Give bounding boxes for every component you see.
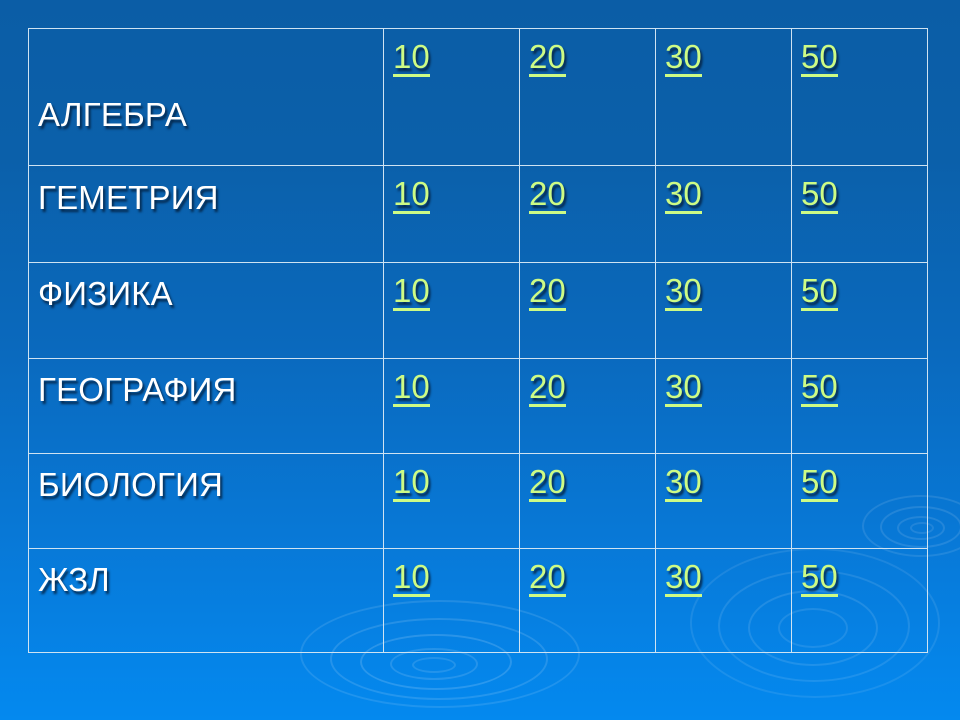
category-cell-biology: БИОЛОГИЯ bbox=[29, 454, 384, 549]
points-link[interactable]: 50 bbox=[801, 560, 838, 597]
score-cell-zhzl-50[interactable]: 50 bbox=[792, 549, 928, 653]
points-link[interactable]: 50 bbox=[801, 274, 838, 311]
points-link[interactable]: 30 bbox=[665, 370, 702, 407]
table-row: ГЕМЕТРИЯ 10 20 30 50 bbox=[29, 166, 928, 263]
score-cell-geography-50[interactable]: 50 bbox=[792, 359, 928, 454]
points-link[interactable]: 50 bbox=[801, 177, 838, 214]
score-cell-zhzl-10[interactable]: 10 bbox=[384, 549, 520, 653]
points-link[interactable]: 20 bbox=[529, 274, 566, 311]
points-link[interactable]: 30 bbox=[665, 560, 702, 597]
category-label: ГЕОГРАФИЯ bbox=[29, 359, 383, 406]
points-link[interactable]: 30 bbox=[665, 274, 702, 311]
points-link[interactable]: 10 bbox=[393, 177, 430, 214]
score-cell-geography-20[interactable]: 20 bbox=[520, 359, 656, 454]
score-cell-physics-50[interactable]: 50 bbox=[792, 263, 928, 359]
score-cell-geography-30[interactable]: 30 bbox=[656, 359, 792, 454]
score-cell-biology-20[interactable]: 20 bbox=[520, 454, 656, 549]
score-cell-geometry-10[interactable]: 10 bbox=[384, 166, 520, 263]
points-link[interactable]: 50 bbox=[801, 40, 838, 77]
points-link[interactable]: 10 bbox=[393, 40, 430, 77]
score-cell-physics-10[interactable]: 10 bbox=[384, 263, 520, 359]
score-cell-physics-30[interactable]: 30 bbox=[656, 263, 792, 359]
score-cell-biology-10[interactable]: 10 bbox=[384, 454, 520, 549]
points-link[interactable]: 50 bbox=[801, 370, 838, 407]
category-cell-algebra: АЛГЕБРА bbox=[29, 29, 384, 166]
points-link[interactable]: 30 bbox=[665, 40, 702, 77]
category-cell-zhzl: ЖЗЛ bbox=[29, 549, 384, 653]
score-cell-geometry-30[interactable]: 30 bbox=[656, 166, 792, 263]
points-link[interactable]: 10 bbox=[393, 560, 430, 597]
points-link[interactable]: 20 bbox=[529, 465, 566, 502]
category-label: ЖЗЛ bbox=[29, 549, 383, 596]
category-label: АЛГЕБРА bbox=[29, 29, 383, 131]
table-row: АЛГЕБРА 10 20 30 50 bbox=[29, 29, 928, 166]
points-link[interactable]: 10 bbox=[393, 274, 430, 311]
score-cell-algebra-20[interactable]: 20 bbox=[520, 29, 656, 166]
category-label: ГЕМЕТРИЯ bbox=[29, 166, 383, 214]
category-label: БИОЛОГИЯ bbox=[29, 454, 383, 501]
score-cell-algebra-50[interactable]: 50 bbox=[792, 29, 928, 166]
category-label: ФИЗИКА bbox=[29, 263, 383, 310]
points-link[interactable]: 50 bbox=[801, 465, 838, 502]
score-cell-geography-10[interactable]: 10 bbox=[384, 359, 520, 454]
slide-canvas: АЛГЕБРА 10 20 30 50 ГЕМЕТРИЯ bbox=[0, 0, 960, 720]
category-cell-geometry: ГЕМЕТРИЯ bbox=[29, 166, 384, 263]
table-row: ЖЗЛ 10 20 30 50 bbox=[29, 549, 928, 653]
points-link[interactable]: 20 bbox=[529, 40, 566, 77]
score-cell-biology-30[interactable]: 30 bbox=[656, 454, 792, 549]
jeopardy-board-table: АЛГЕБРА 10 20 30 50 ГЕМЕТРИЯ bbox=[28, 28, 928, 653]
points-link[interactable]: 30 bbox=[665, 465, 702, 502]
category-cell-physics: ФИЗИКА bbox=[29, 263, 384, 359]
score-cell-geometry-20[interactable]: 20 bbox=[520, 166, 656, 263]
table-row: ФИЗИКА 10 20 30 50 bbox=[29, 263, 928, 359]
category-cell-geography: ГЕОГРАФИЯ bbox=[29, 359, 384, 454]
score-cell-zhzl-30[interactable]: 30 bbox=[656, 549, 792, 653]
points-link[interactable]: 20 bbox=[529, 560, 566, 597]
points-link[interactable]: 20 bbox=[529, 370, 566, 407]
score-cell-geometry-50[interactable]: 50 bbox=[792, 166, 928, 263]
points-link[interactable]: 20 bbox=[529, 177, 566, 214]
score-cell-algebra-10[interactable]: 10 bbox=[384, 29, 520, 166]
points-link[interactable]: 30 bbox=[665, 177, 702, 214]
table-row: БИОЛОГИЯ 10 20 30 50 bbox=[29, 454, 928, 549]
table-row: ГЕОГРАФИЯ 10 20 30 50 bbox=[29, 359, 928, 454]
points-link[interactable]: 10 bbox=[393, 370, 430, 407]
score-cell-biology-50[interactable]: 50 bbox=[792, 454, 928, 549]
score-cell-algebra-30[interactable]: 30 bbox=[656, 29, 792, 166]
points-link[interactable]: 10 bbox=[393, 465, 430, 502]
score-cell-physics-20[interactable]: 20 bbox=[520, 263, 656, 359]
score-cell-zhzl-20[interactable]: 20 bbox=[520, 549, 656, 653]
